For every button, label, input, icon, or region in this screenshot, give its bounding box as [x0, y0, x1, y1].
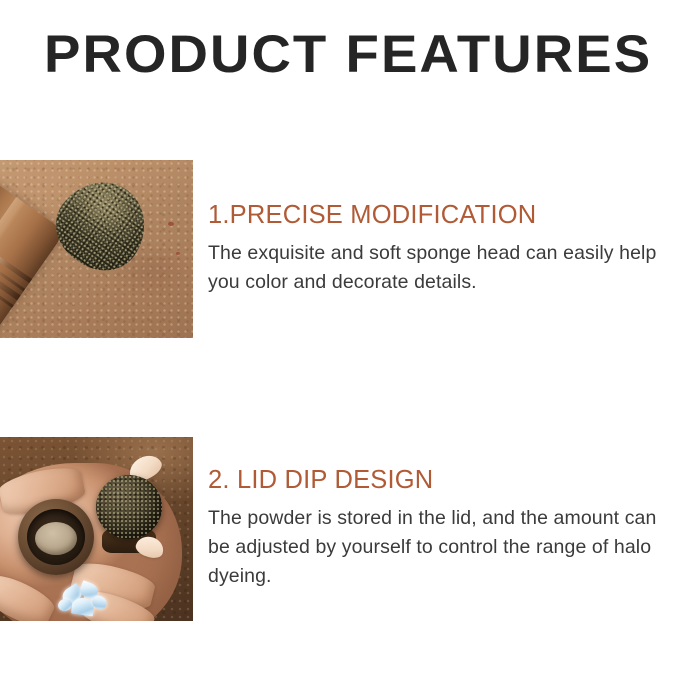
product-photo-lid-in-hand	[0, 437, 193, 621]
lid-interior	[27, 509, 85, 565]
sponge-applicator-head	[96, 475, 162, 539]
diamond-ring	[56, 583, 110, 617]
feature-body-lid-dip-design: The powder is stored in the lid, and the…	[208, 504, 670, 591]
page-title: PRODUCT FEATURES	[44, 26, 662, 84]
feature-photo-lid-dip-design	[0, 437, 193, 621]
feature-text-block: 1.PRECISE MODIFICATION The exquisite and…	[208, 200, 670, 297]
feature-body-precise-modification: The exquisite and soft sponge head can e…	[208, 239, 670, 297]
background-speck	[176, 252, 180, 255]
feature-heading-precise-modification: 1.PRECISE MODIFICATION	[208, 200, 670, 231]
sponge-texture	[96, 475, 162, 539]
finger	[0, 569, 58, 621]
feature-heading-lid-dip-design: 2. LID DIP DESIGN	[208, 465, 670, 496]
background-speck	[168, 222, 174, 226]
product-lid	[18, 499, 94, 575]
feature-photo-precise-modification	[0, 160, 193, 338]
powder-in-lid	[35, 522, 77, 555]
feature-text-block: 2. LID DIP DESIGN The powder is stored i…	[208, 465, 670, 591]
product-photo-sponge-tip	[0, 160, 193, 338]
